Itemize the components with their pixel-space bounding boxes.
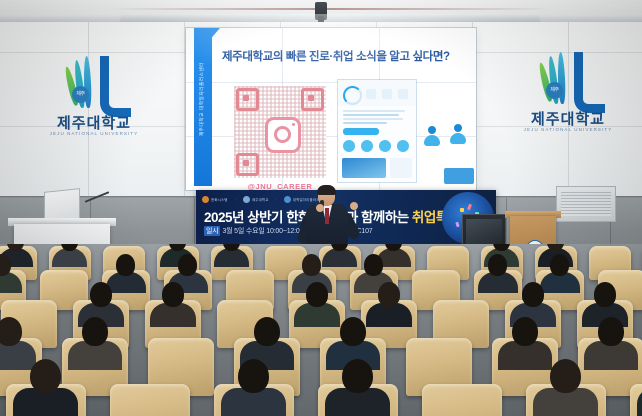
- logo-korean-name: 제주대학교: [516, 108, 620, 129]
- ceiling-projector-icon: [315, 2, 327, 20]
- logo-english-name: JEJU NATIONAL UNIVERSITY: [42, 131, 146, 136]
- audience-seat: [110, 384, 190, 416]
- progress-ring-icon: [343, 86, 362, 105]
- mobile-app-mockup: [338, 80, 416, 182]
- seated-audience: [0, 244, 642, 416]
- university-logo-right: 제주 제주대학교 JEJU NATIONAL UNIVERSITY: [516, 48, 620, 152]
- logo-korean-name: 제주대학교: [42, 112, 146, 133]
- university-logo-left: 제주 제주대학교 JEJU NATIONAL UNIVERSITY: [42, 52, 146, 156]
- mockup-cta-button: [343, 128, 379, 135]
- logo-english-name: JEJU NATIONAL UNIVERSITY: [516, 127, 620, 132]
- slide-sidebar-label: 제주대학교 대학일자리플러스센터: [199, 49, 205, 149]
- logo-seal-icon: 제주: [72, 86, 89, 103]
- slide-sidebar: 제주대학교 대학일자리플러스센터: [194, 30, 212, 186]
- instagram-qr-code: [234, 86, 326, 178]
- projection-screen: 제주대학교 대학일자리플러스센터 제주대학교의 빠른 진로·취업 소식을 알고 …: [186, 28, 476, 190]
- date-tag: 일시: [204, 226, 220, 236]
- ceiling-rail: [108, 8, 552, 10]
- logo-seal-icon: 제주: [546, 82, 563, 99]
- slide-color-block: [444, 168, 474, 184]
- instagram-camera-icon: [265, 117, 301, 153]
- slide-headline: 제주대학교의 빠른 진로·취업 소식을 알고 싶다면?: [222, 48, 468, 64]
- wall-speaker: [556, 186, 616, 222]
- logo-j-mark: [574, 52, 605, 113]
- logo-j-mark: [100, 56, 131, 117]
- sponsor-separator: ·: [235, 197, 236, 202]
- sponsor-separator: ·: [276, 197, 277, 202]
- sponsor-logo: 한화시스템: [202, 196, 228, 203]
- lecture-hall-photo: 제주 제주대학교 JEJU NATIONAL UNIVERSITY 제주 제주대…: [0, 0, 642, 416]
- people-illustration: [422, 124, 474, 170]
- date-text: 3월 5일 수요일 10:00~12:00: [222, 228, 303, 235]
- audience-seat: [422, 384, 502, 416]
- sponsor-logo: 제주대학교: [243, 196, 269, 203]
